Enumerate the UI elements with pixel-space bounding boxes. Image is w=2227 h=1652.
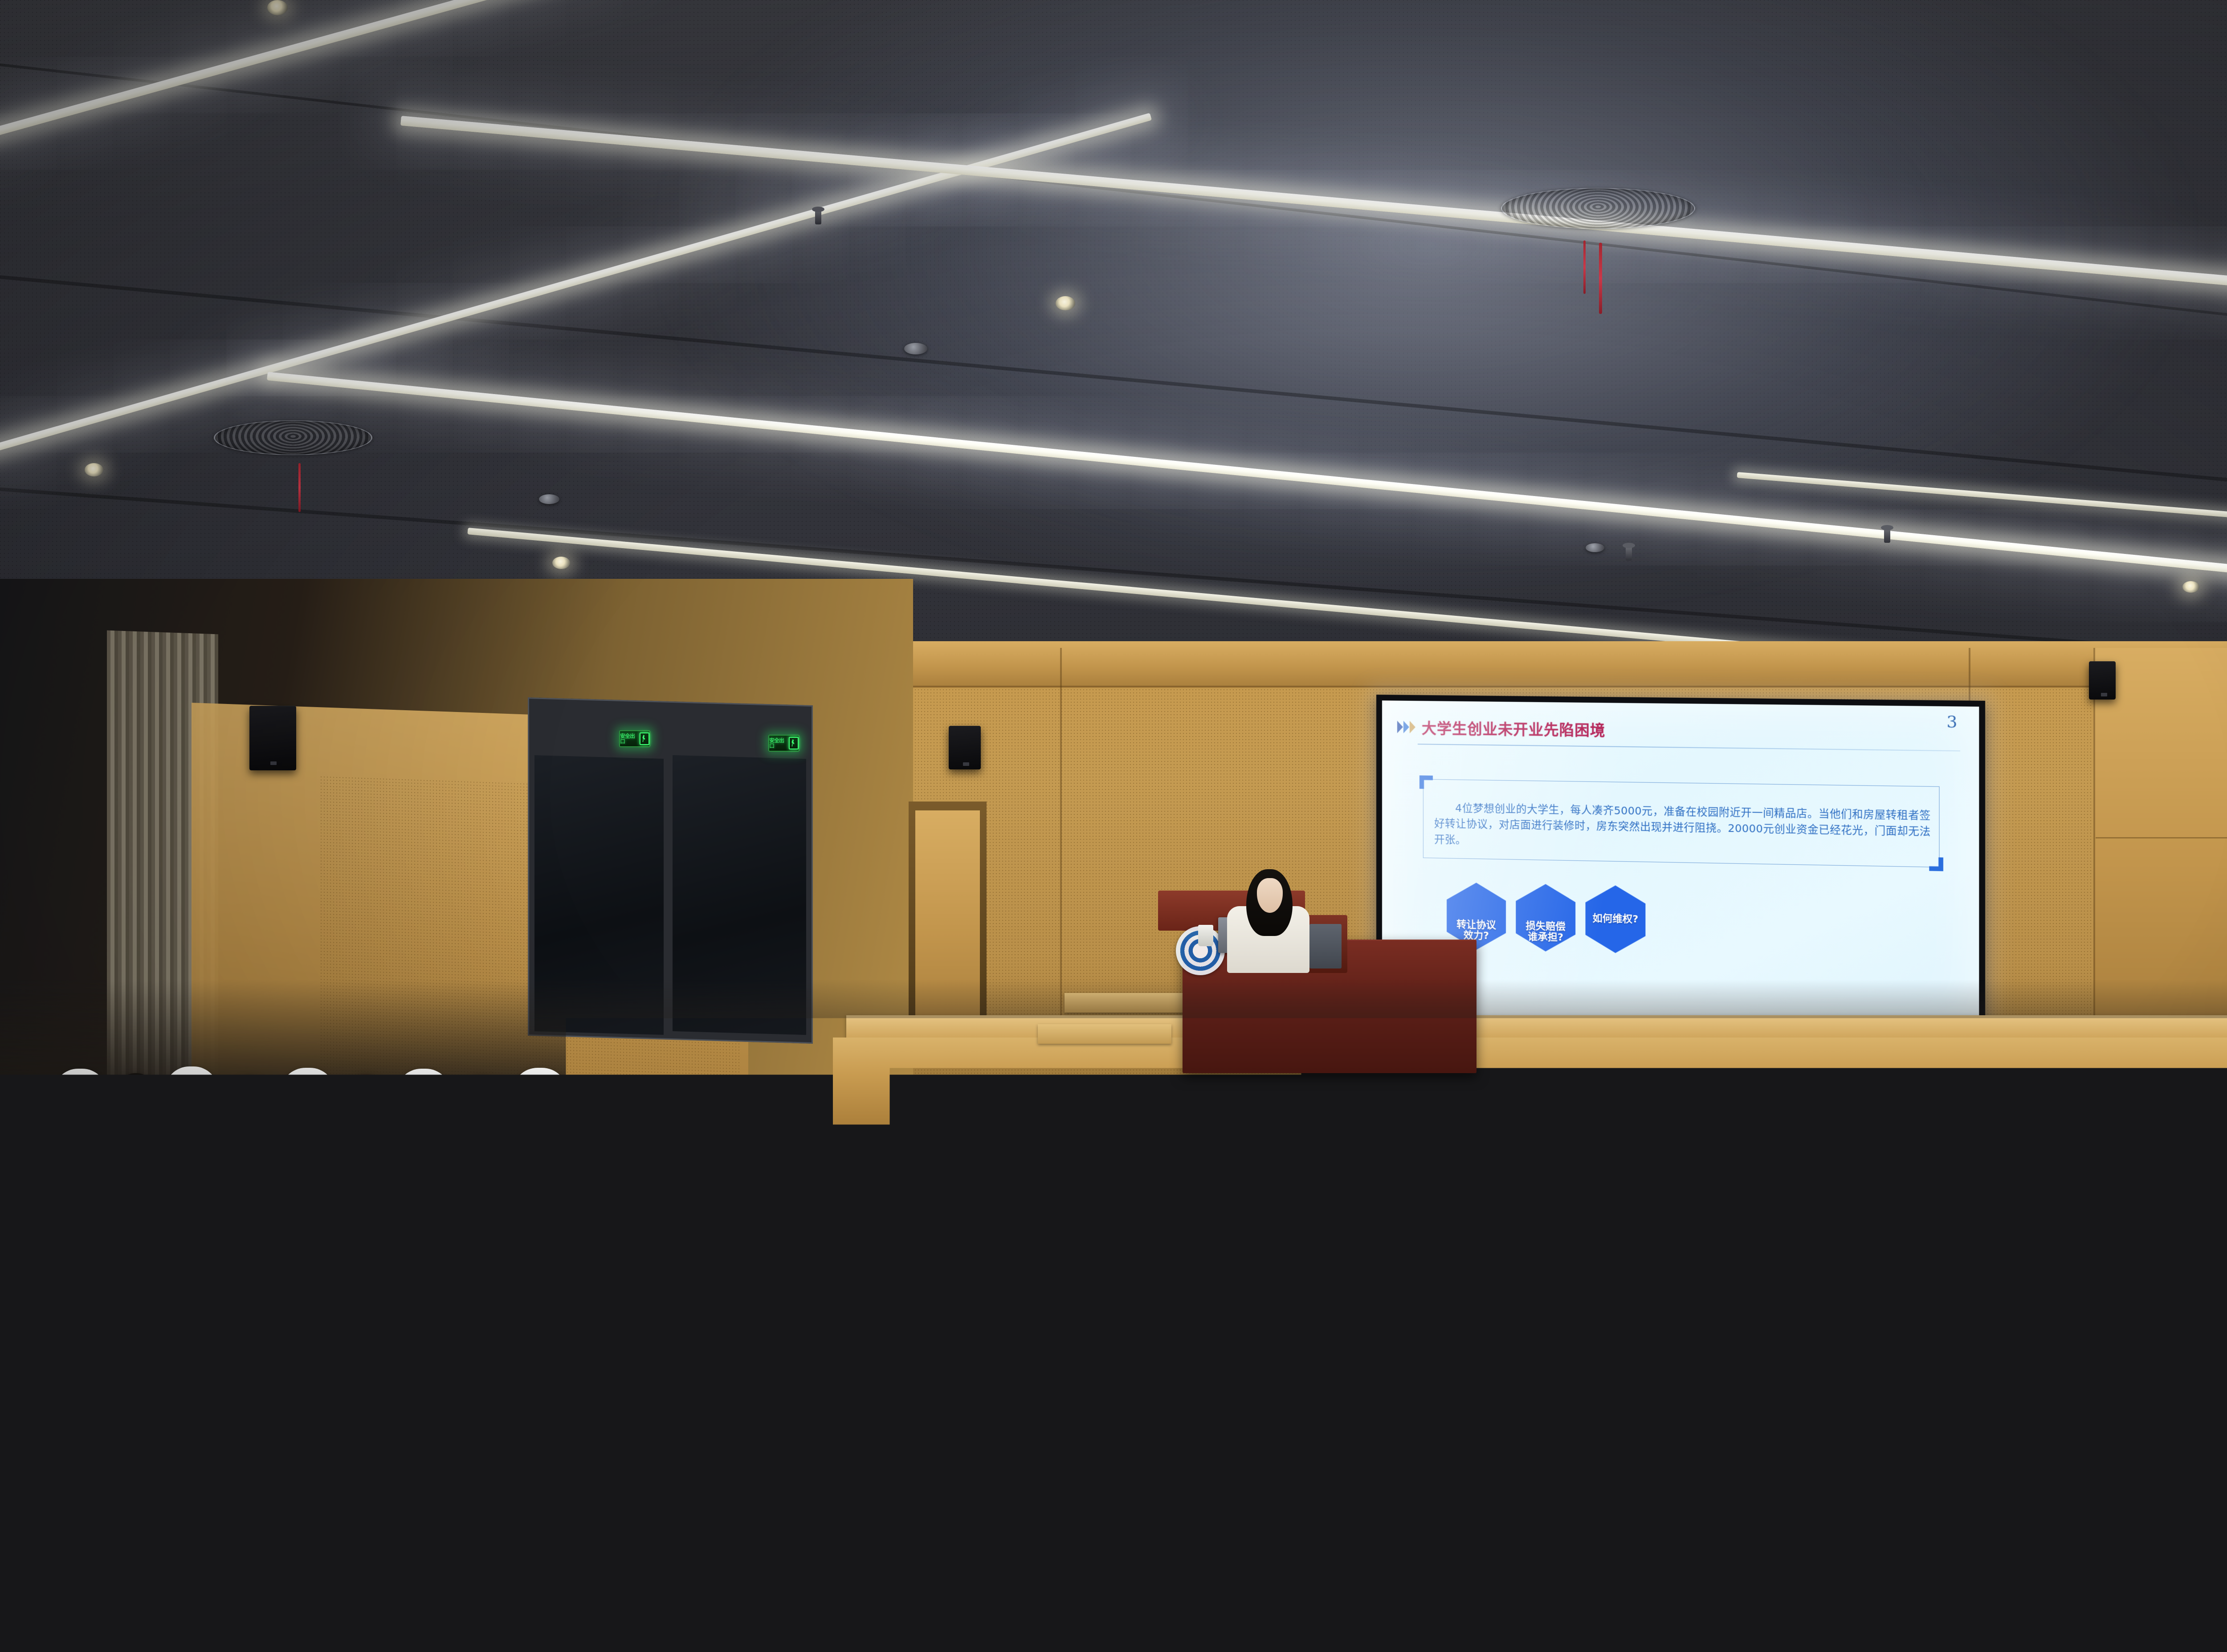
headrest (551, 1133, 620, 1186)
headrest (1969, 1217, 2060, 1289)
headrest (1797, 1135, 1869, 1191)
chevron-right-icon-3 (1410, 721, 1415, 733)
audience-head (1171, 1075, 1218, 1125)
audience-head (232, 1321, 322, 1420)
smoke-detector-2 (539, 494, 559, 504)
headrest (1799, 1216, 1889, 1288)
audience-head (861, 1319, 953, 1421)
audience-head (2064, 1221, 2140, 1303)
lecture-hall-photo: 安全出口 安全出口 大学生创业未开业先陷困境 3 (0, 0, 2227, 1652)
audience-head (1734, 1138, 1794, 1203)
headrest (823, 1133, 893, 1187)
audience-head (649, 1321, 741, 1422)
audience-head (1454, 1139, 1513, 1204)
headrest (18, 1131, 85, 1183)
headrest (396, 1069, 451, 1110)
chevron-group-icon (1397, 721, 1415, 734)
audience-head (343, 1074, 388, 1123)
headrest (2084, 1069, 2141, 1112)
headrest (165, 1066, 218, 1107)
audience-head (2150, 1075, 2198, 1127)
back-wall-upper-band (846, 641, 2227, 688)
headrest (1656, 1134, 1728, 1190)
audience-head (1723, 1319, 1819, 1425)
smoke-detector-1 (904, 343, 927, 354)
slide-case-box: 4位梦想创业的大学生，每人凑齐5000元，准备在校园附近开一间精品店。当他们和房… (1423, 779, 1940, 867)
audience-head (459, 1075, 503, 1123)
diffuser-ribbon-1 (1583, 240, 1586, 294)
auditorium-seat[interactable] (1488, 1628, 1621, 1652)
headrest (2080, 1135, 2153, 1192)
hexagon-question-3: 如何维权? (1586, 885, 1646, 954)
sprinkler-head-3 (1884, 528, 1890, 543)
audience-head (1943, 1321, 2040, 1428)
audience-head (811, 1074, 857, 1124)
audience-head (722, 1220, 795, 1299)
headrest (325, 1313, 434, 1398)
audience-head (887, 1221, 960, 1300)
stage-chair-back (1309, 924, 1342, 968)
air-diffuser-1 (1501, 188, 1695, 229)
headrest (1237, 1134, 1309, 1189)
ceiling-glow (668, 0, 2182, 601)
audience-head (1292, 1074, 1339, 1124)
ceiling-downlight-2 (1056, 296, 1075, 310)
audience-head (440, 1319, 531, 1420)
headrest (1516, 1134, 1587, 1189)
slide-page-number: 3 (1946, 713, 1957, 732)
headrest (986, 1069, 1042, 1111)
audience-head (2165, 1319, 2227, 1427)
audience-head (1505, 1321, 1600, 1426)
sprinkler-head-1 (815, 209, 821, 224)
hexagon-question-2-label: 损失赔偿谁承担? (1521, 921, 1570, 944)
audience-head (762, 1139, 820, 1202)
running-person-icon-left (640, 732, 649, 745)
audience-head (1036, 1139, 1095, 1203)
audience-head (232, 1221, 303, 1298)
audience-head (1220, 1221, 1293, 1301)
ceiling-downlight-4 (2182, 581, 2199, 593)
audience-head (1594, 1139, 1653, 1204)
chevron-right-icon-2 (1403, 721, 1409, 733)
sprinkler-head-2 (1626, 545, 1632, 561)
audience-head (1053, 1220, 1126, 1300)
audience-head (1288, 1319, 1383, 1423)
headrest (1470, 1069, 1527, 1111)
hexagon-question-3-label: 如何维权? (1591, 913, 1640, 925)
wall-speaker-center-left (949, 726, 981, 769)
ceiling-downlight-3 (552, 557, 570, 569)
headrest (283, 1133, 351, 1185)
headrest (1938, 1135, 2011, 1191)
headrest (53, 1069, 107, 1110)
wall-seam-5 (2096, 837, 2227, 838)
wall-seam-1 (846, 686, 2227, 687)
headrest (1385, 1314, 1498, 1404)
audience-head (222, 1139, 278, 1200)
audience-head (1386, 1220, 1460, 1300)
headrest (2223, 1135, 2227, 1192)
exit-sign-left: 安全出口 (619, 730, 650, 747)
audience-head (558, 1221, 630, 1299)
audience-head (395, 1220, 466, 1298)
headrest (118, 1311, 225, 1396)
headrest (2207, 1069, 2227, 1112)
audience-head (1414, 1075, 1461, 1126)
audience-head (1051, 1074, 1097, 1124)
audience-head (693, 1075, 738, 1124)
audience-head (1536, 1074, 1583, 1125)
audience-head (1780, 1074, 1827, 1125)
headrest (629, 1069, 684, 1111)
audience-head (931, 1075, 977, 1125)
headrest (1348, 1069, 1405, 1111)
audience-head (899, 1138, 957, 1201)
running-person-icon-right (789, 737, 799, 749)
slide-title: 大学生创业未开业先陷困境 (1422, 716, 1605, 740)
audience-head (227, 1075, 272, 1123)
headrest (0, 1211, 68, 1278)
ceiling-downlight-5 (85, 463, 103, 476)
wall-speaker-stage-right (2089, 661, 2116, 700)
audience-head (2027, 1074, 2075, 1126)
headrest (1714, 1069, 1771, 1111)
audience-head (114, 1073, 158, 1122)
headrest (143, 1213, 229, 1281)
box-corner-top-left (1419, 775, 1433, 789)
headrest (416, 1133, 485, 1186)
headrest (1822, 1315, 1937, 1406)
headrest (508, 1428, 658, 1547)
audience-head (2159, 1138, 2220, 1204)
chevron-right-icon-1 (1397, 721, 1403, 733)
audience-head (1658, 1075, 1705, 1126)
hexagon-question-1-label: 转让协议效力? (1452, 919, 1501, 942)
audience-head (1875, 1139, 1936, 1205)
ceiling-downlight-1 (267, 0, 288, 15)
headrest (1836, 1069, 1894, 1112)
audience-head (1175, 1139, 1234, 1203)
audience-head (2017, 1139, 2077, 1205)
headrest (232, 1427, 380, 1545)
audience-head (625, 1138, 682, 1200)
slide-body-text: 4位梦想创业的大学生，每人凑齐5000元，准备在校园附近开一间精品店。当他们和房… (1434, 800, 1931, 856)
audience-head (70, 1220, 141, 1297)
headrest (1170, 1314, 1282, 1404)
audience-head (1073, 1321, 1167, 1424)
smoke-detector-3 (1586, 543, 1604, 552)
headrest (468, 1214, 555, 1282)
headrest (866, 1068, 922, 1110)
hexagon-question-2: 损失赔偿谁承担? (1516, 883, 1575, 952)
headrest (687, 1133, 756, 1186)
headrest (960, 1134, 1031, 1188)
audience-head (575, 1074, 621, 1123)
audience-head (1554, 1221, 1629, 1302)
headrest (1293, 1215, 1383, 1285)
headrest (1603, 1315, 1717, 1405)
headrest (149, 1132, 217, 1184)
exit-sign-right: 安全出口 (768, 735, 799, 752)
slide-header: 大学生创业未开业先陷困境 (1397, 712, 1960, 749)
headrest (796, 1214, 885, 1283)
headrest (1960, 1069, 2018, 1112)
headrest (1629, 1216, 1720, 1287)
seat-wood-top (1488, 1628, 1621, 1652)
headrest (746, 1069, 802, 1111)
headrest (305, 1213, 392, 1282)
audience-head (490, 1139, 547, 1201)
headrest (961, 1215, 1050, 1285)
diffuser-ribbon-2 (1599, 243, 1602, 314)
slide-question-hexagons: 转让协议效力? 损失赔偿谁承担? 如何维权? (1447, 882, 1645, 954)
audience-head (355, 1138, 412, 1200)
air-diffuser-2 (214, 420, 372, 455)
headrest (534, 1313, 643, 1399)
audience-head (1314, 1138, 1373, 1202)
podium-paper-cup (1198, 925, 1213, 946)
audience-head (1893, 1220, 1969, 1302)
headrest (1461, 1216, 1551, 1287)
audience-seating: 9 (0, 980, 2227, 1652)
headrest (512, 1068, 567, 1110)
box-corner-bottom-right (1929, 857, 1943, 871)
audience-head (1724, 1221, 1799, 1302)
headrest (2043, 1316, 2158, 1408)
headrest (744, 1314, 854, 1401)
audience-head (27, 1318, 116, 1416)
headrest (956, 1314, 1067, 1402)
headrest (1592, 1069, 1649, 1111)
headrest (281, 1068, 335, 1109)
headrest (1098, 1134, 1169, 1188)
audience-head (89, 1138, 144, 1198)
headrest (632, 1214, 720, 1283)
wall-speaker-left (249, 706, 296, 770)
audience-head (1903, 1075, 1951, 1127)
headrest (1227, 1069, 1283, 1111)
diffuser-ribbon-3 (298, 463, 301, 512)
exit-sign-label-right: 安全出口 (769, 738, 787, 749)
headrest (2140, 1217, 2227, 1290)
headrest (1376, 1134, 1448, 1189)
headrest (1127, 1215, 1216, 1285)
exit-sign-label-left: 安全出口 (620, 733, 638, 744)
headrest (1106, 1069, 1162, 1111)
